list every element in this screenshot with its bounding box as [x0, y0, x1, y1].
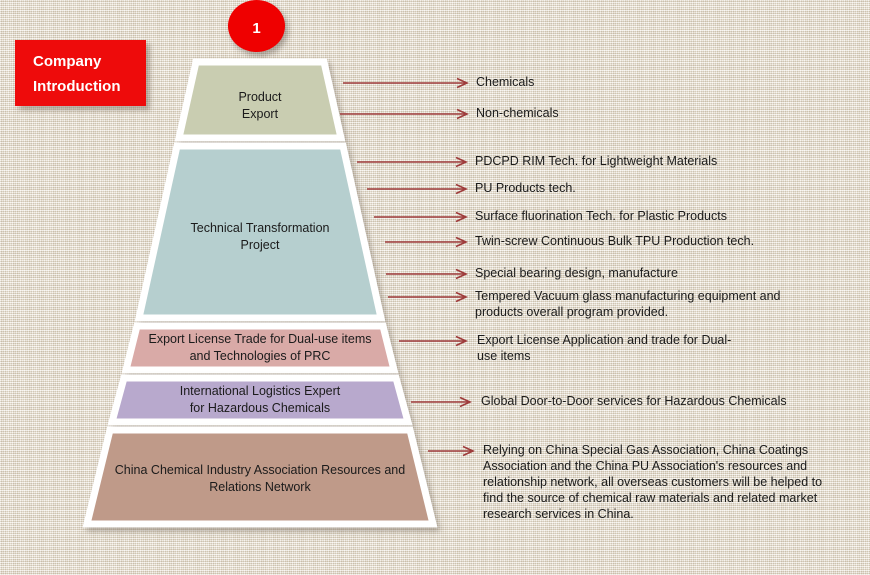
callout-china-associations-network-line-5: research services in China. — [483, 506, 822, 522]
callout-tempered-vacuum-glass-line-2: products overall program provided. — [475, 304, 781, 320]
arrow-right-icon — [340, 108, 470, 120]
callout-chemicals: Chemicals — [343, 74, 534, 90]
callout-pu-products-tech-line-1: PU Products tech. — [475, 180, 576, 196]
arrow-right-icon — [428, 445, 476, 457]
arrow-right-icon — [386, 268, 469, 280]
callout-export-license-application-line-1: Export License Application and trade for… — [477, 332, 731, 348]
callout-tempered-vacuum-glass-line-1: Tempered Vacuum glass manufacturing equi… — [475, 288, 781, 304]
callout-non-chemicals-line-1: Non-chemicals — [476, 105, 559, 121]
pyramid-layer-international-logistics[interactable]: International Logistics Expert for Hazar… — [60, 374, 460, 426]
callout-tempered-vacuum-glass: Tempered Vacuum glass manufacturing equi… — [388, 288, 781, 320]
callout-export-license-application-line-2: use items — [477, 348, 731, 364]
callout-chemicals-line-1: Chemicals — [476, 74, 534, 90]
arrow-right-icon — [411, 396, 473, 408]
callout-global-door-to-door-line-1: Global Door-to-Door services for Hazardo… — [481, 393, 787, 409]
callout-surface-fluorination-tech-line-1: Surface fluorination Tech. for Plastic P… — [475, 208, 727, 224]
arrow-right-icon — [367, 183, 469, 195]
callout-special-bearing-design-line-1: Special bearing design, manufacture — [475, 265, 678, 281]
arrow-right-icon — [357, 156, 469, 168]
callout-china-associations-network-line-2: Association and the China PU Association… — [483, 458, 822, 474]
callout-surface-fluorination-tech: Surface fluorination Tech. for Plastic P… — [374, 208, 727, 224]
slide-canvas: 1 Company Introduction Product Export — [0, 0, 870, 575]
callout-twin-screw-tpu-tech: Twin-screw Continuous Bulk TPU Productio… — [385, 233, 754, 249]
arrow-right-icon — [385, 236, 469, 248]
callout-twin-screw-tpu-tech-line-1: Twin-screw Continuous Bulk TPU Productio… — [475, 233, 754, 249]
callout-pdcpd-rim-tech: PDCPD RIM Tech. for Lightweight Material… — [357, 153, 717, 169]
arrow-right-icon — [374, 211, 469, 223]
slide-number-badge: 1 — [228, 0, 285, 52]
callout-export-license-application: Export License Application and trade for… — [399, 332, 731, 364]
pyramid-layer-china-chemical-association[interactable]: China Chemical Industry Association Reso… — [60, 426, 460, 530]
callout-pdcpd-rim-tech-line-1: PDCPD RIM Tech. for Lightweight Material… — [475, 153, 717, 169]
slide-number-badge-label: 1 — [252, 21, 260, 36]
callout-china-associations-network: Relying on China Special Gas Association… — [428, 442, 822, 522]
callout-non-chemicals: Non-chemicals — [340, 105, 559, 121]
callout-global-door-to-door: Global Door-to-Door services for Hazardo… — [411, 393, 787, 409]
callout-pu-products-tech: PU Products tech. — [367, 180, 576, 196]
pyramid-layer-product-export[interactable]: Product Export — [60, 58, 460, 142]
arrow-right-icon — [399, 335, 469, 347]
callout-china-associations-network-line-1: Relying on China Special Gas Association… — [483, 442, 822, 458]
callout-china-associations-network-line-4: find the source of chemical raw material… — [483, 490, 822, 506]
arrow-right-icon — [343, 77, 470, 89]
callout-special-bearing-design: Special bearing design, manufacture — [386, 265, 678, 281]
arrow-right-icon — [388, 291, 469, 303]
callout-china-associations-network-line-3: relationship network, all overseas custo… — [483, 474, 822, 490]
